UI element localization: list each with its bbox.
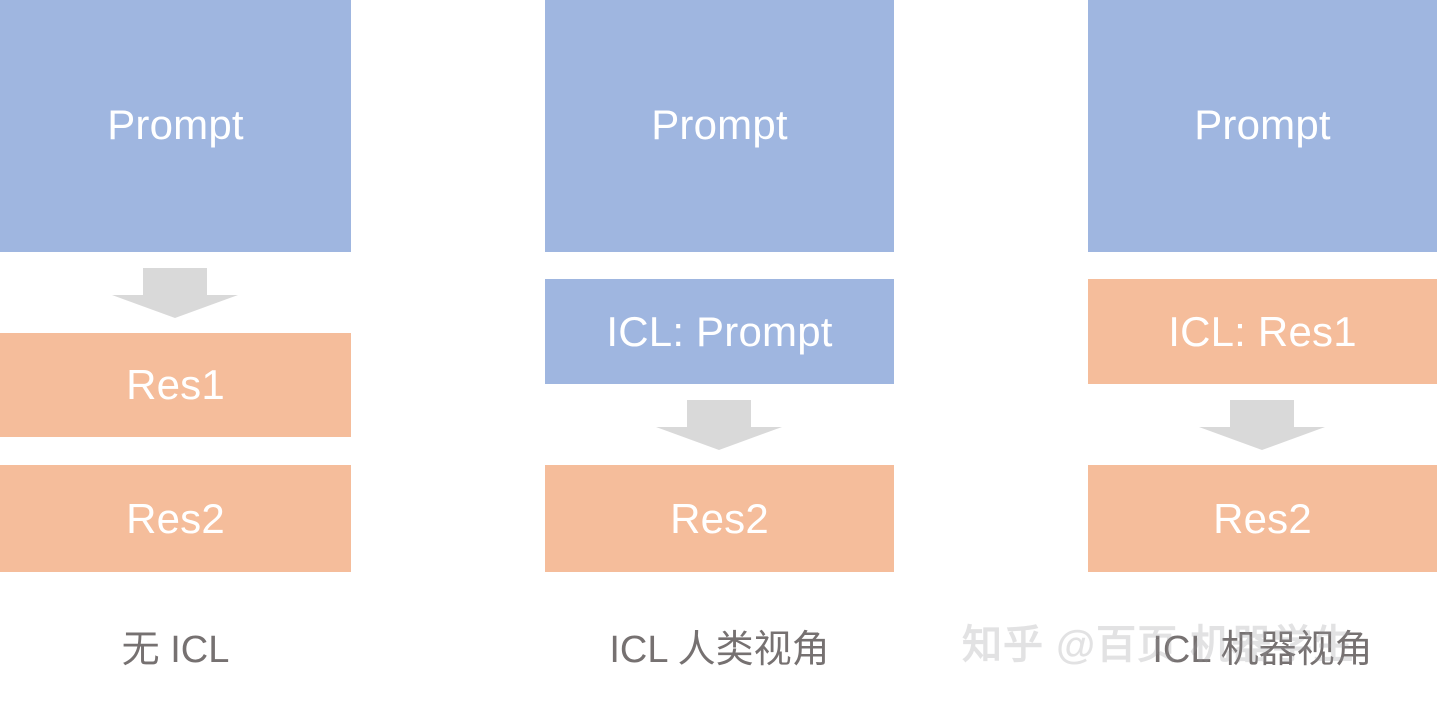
col3-caption: ICL 机器视角 xyxy=(1088,631,1437,669)
col1-res2-label: Res2 xyxy=(126,498,225,540)
col2-res2-label: Res2 xyxy=(670,498,769,540)
col2-res2-box: Res2 xyxy=(545,465,894,572)
col3-prompt-label: Prompt xyxy=(1194,104,1331,146)
col2-arrow-icl-prompt-to-res2 xyxy=(656,400,782,450)
col1-res2-box: Res2 xyxy=(0,465,351,572)
col3-arrow-icl-res1-to-res2 xyxy=(1199,400,1325,450)
col1-arrow-prompt-to-res1 xyxy=(112,268,238,318)
col2-prompt-box: Prompt xyxy=(545,0,894,252)
diagram-canvas: Prompt Res1 Res2 无 ICL Prompt ICL: Promp… xyxy=(0,0,1440,707)
col1-prompt-box: Prompt xyxy=(0,0,351,252)
down-arrow-icon xyxy=(112,268,238,318)
col1-prompt-label: Prompt xyxy=(107,104,244,146)
col2-icl-prompt-box: ICL: Prompt xyxy=(545,279,894,384)
col2-prompt-label: Prompt xyxy=(651,104,788,146)
col3-icl-res1-box: ICL: Res1 xyxy=(1088,279,1437,384)
col3-prompt-box: Prompt xyxy=(1088,0,1437,252)
col1-caption: 无 ICL xyxy=(0,631,351,669)
col2-icl-prompt-label: ICL: Prompt xyxy=(606,311,832,353)
col3-res2-label: Res2 xyxy=(1213,498,1312,540)
col1-res1-label: Res1 xyxy=(126,364,225,406)
col2-caption: ICL 人类视角 xyxy=(545,631,894,669)
down-arrow-icon xyxy=(656,400,782,450)
down-arrow-icon xyxy=(1199,400,1325,450)
col3-res2-box: Res2 xyxy=(1088,465,1437,572)
col1-res1-box: Res1 xyxy=(0,333,351,437)
col3-icl-res1-label: ICL: Res1 xyxy=(1168,311,1357,353)
